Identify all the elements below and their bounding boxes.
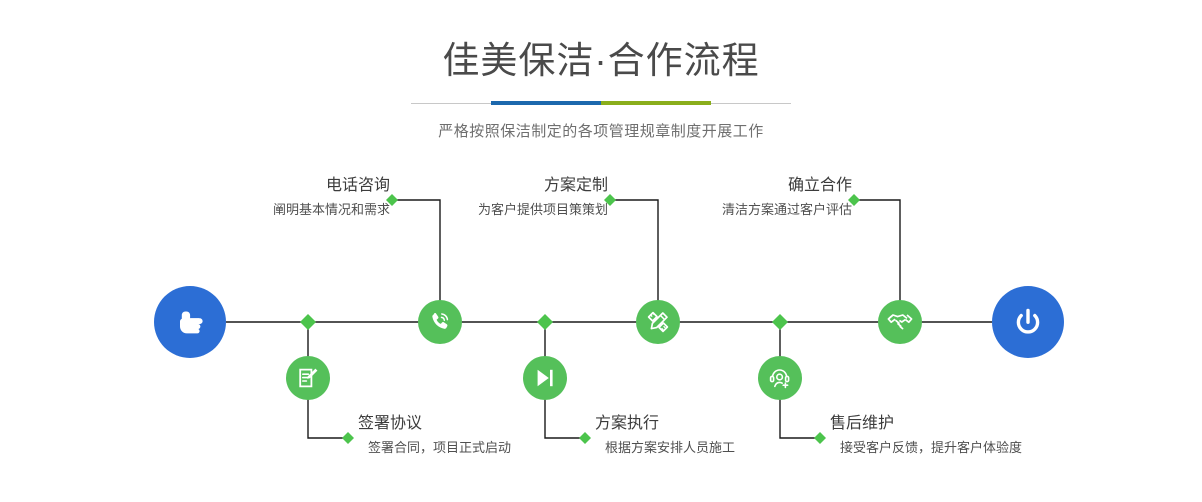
label-title-step-2: 签署协议 (358, 414, 618, 434)
label-step-4: 方案执行 根据方案安排人员施工 (595, 414, 855, 457)
title-divider (411, 98, 791, 110)
label-step-2: 签署协议 签署合同，项目正式启动 (358, 414, 618, 457)
label-desc-step-6: 接受客户反馈，提升客户体验度 (830, 438, 1130, 457)
node-icon-step-5[interactable] (878, 300, 922, 344)
divider-segment-green (601, 101, 711, 105)
label-step-5: 确立合作 清洁方案通过客户评估 (652, 176, 852, 219)
phone-call-icon (427, 309, 453, 335)
label-desc-step-1: 阐明基本情况和需求 (190, 200, 390, 219)
node-icon-step-3[interactable] (636, 300, 680, 344)
pencil-ruler-icon (645, 309, 671, 335)
pointing-hand-icon (170, 302, 210, 342)
document-edit-icon (295, 365, 321, 391)
label-title-step-4: 方案执行 (595, 414, 855, 434)
page-title: 佳美保洁·合作流程 (0, 0, 1202, 84)
node-icon-step-6[interactable] (758, 356, 802, 400)
flow-end-endpoint[interactable] (992, 286, 1064, 358)
label-title-step-1: 电话咨询 (190, 176, 390, 196)
page-header: 佳美保洁·合作流程 严格按照保洁制定的各项管理规章制度开展工作 (0, 0, 1202, 143)
play-skip-icon (532, 365, 558, 391)
label-title-step-6: 售后维护 (830, 414, 1130, 434)
label-step-3: 方案定制 为客户提供项目策策划 (408, 176, 608, 219)
customer-service-icon (767, 365, 793, 391)
process-flow-diagram: 电话咨询 阐明基本情况和需求 签署协议 签署合同，项目正式启动 (0, 150, 1202, 502)
divider-segment-blue (491, 101, 601, 105)
label-title-step-3: 方案定制 (408, 176, 608, 196)
node-icon-step-1[interactable] (418, 300, 462, 344)
node-icon-step-2[interactable] (286, 356, 330, 400)
power-icon (1008, 302, 1048, 342)
label-step-1: 电话咨询 阐明基本情况和需求 (190, 176, 390, 219)
flow-infographic-page: 佳美保洁·合作流程 严格按照保洁制定的各项管理规章制度开展工作 (0, 0, 1202, 502)
label-desc-step-5: 清洁方案通过客户评估 (652, 200, 852, 219)
node-icon-step-4[interactable] (523, 356, 567, 400)
page-subtitle: 严格按照保洁制定的各项管理规章制度开展工作 (0, 110, 1202, 143)
flow-start-endpoint[interactable] (154, 286, 226, 358)
label-desc-step-4: 根据方案安排人员施工 (595, 438, 855, 457)
label-desc-step-3: 为客户提供项目策策划 (408, 200, 608, 219)
label-step-6: 售后维护 接受客户反馈，提升客户体验度 (830, 414, 1130, 457)
label-desc-step-2: 签署合同，项目正式启动 (358, 438, 618, 457)
label-title-step-5: 确立合作 (652, 176, 852, 196)
handshake-icon (886, 308, 914, 336)
